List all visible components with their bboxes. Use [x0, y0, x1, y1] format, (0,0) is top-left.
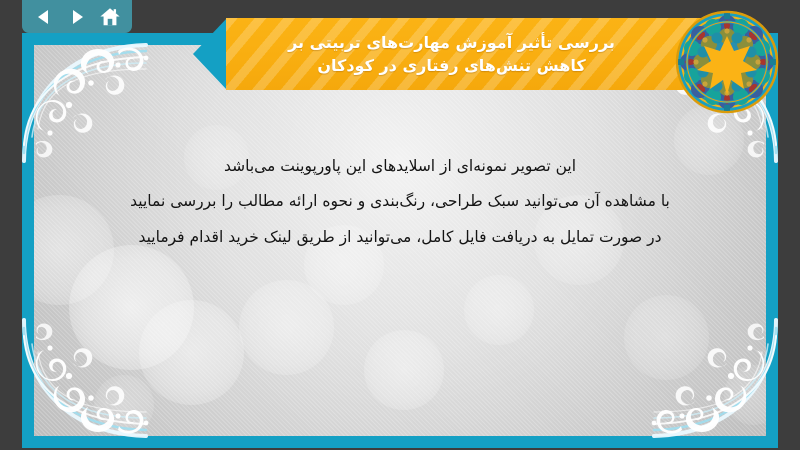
body-line: در صورت تمایل به دریافت فایل کامل، می‌تو…: [74, 220, 726, 255]
slide-viewer: این تصویر نمونه‌ای از اسلایدهای این پاور…: [0, 0, 800, 450]
persian-medallion-icon: [675, 10, 779, 114]
title-banner: بررسی تأثیر آموزش مهارت‌های تربیتی بر کا…: [193, 18, 703, 90]
slide-canvas: این تصویر نمونه‌ای از اسلایدهای این پاور…: [34, 45, 766, 436]
title-line: کاهش تنش‌های رفتاری در کودکان: [317, 54, 585, 77]
body-line: با مشاهده آن می‌توانید سبک طراحی، رنگ‌بن…: [74, 184, 726, 219]
forward-button[interactable]: [64, 4, 90, 30]
home-button[interactable]: [97, 4, 123, 30]
back-button[interactable]: [31, 4, 57, 30]
bokeh-circle: [364, 330, 444, 410]
banner-body: بررسی تأثیر آموزش مهارت‌های تربیتی بر کا…: [226, 18, 703, 90]
slide-frame: این تصویر نمونه‌ای از اسلایدهای این پاور…: [22, 33, 778, 448]
bokeh-circle: [464, 275, 534, 345]
bokeh-circle: [139, 300, 244, 405]
slide-body-text: این تصویر نمونه‌ای از اسلایدهای این پاور…: [74, 149, 726, 255]
triangle-left-icon: [34, 7, 54, 27]
bokeh-circle: [624, 295, 709, 380]
bokeh-circle: [69, 245, 194, 370]
navigation-bar: [22, 0, 132, 33]
home-icon: [99, 6, 121, 28]
triangle-right-icon: [67, 7, 87, 27]
title-line: بررسی تأثیر آموزش مهارت‌های تربیتی بر: [288, 31, 615, 54]
bokeh-circle: [724, 365, 766, 425]
bokeh-circle: [239, 280, 334, 375]
body-line: این تصویر نمونه‌ای از اسلایدهای این پاور…: [74, 149, 726, 184]
bokeh-circle: [94, 375, 154, 435]
banner-arrow-point: [193, 18, 227, 90]
